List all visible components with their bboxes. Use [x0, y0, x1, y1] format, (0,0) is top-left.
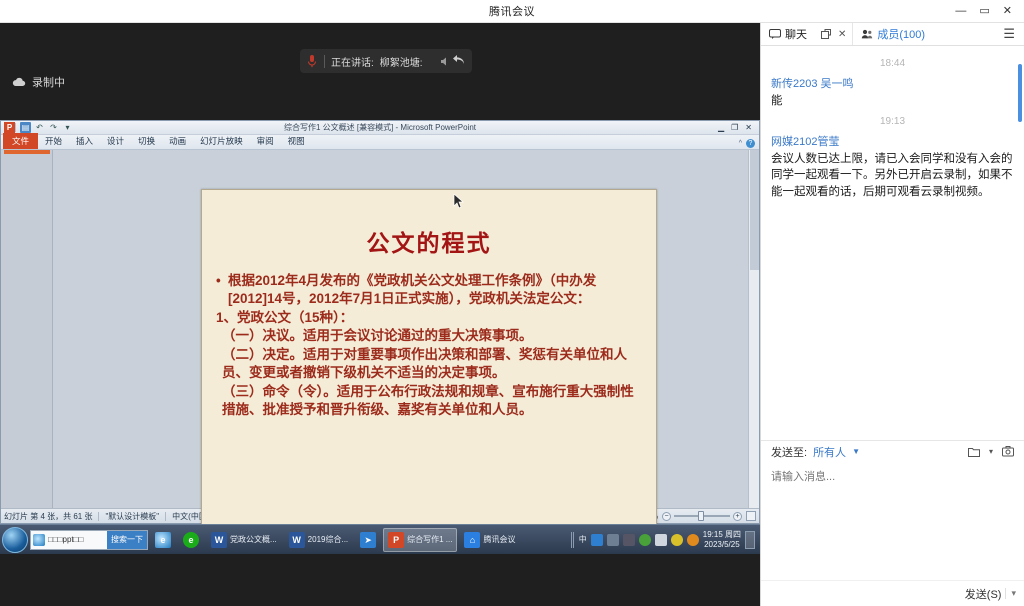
zoom-slider[interactable]: − +	[662, 512, 742, 521]
word-icon: W	[211, 532, 227, 548]
tray-grip	[571, 532, 575, 548]
recording-label: 录制中	[32, 74, 65, 90]
send-to-bar: 发送至: 所有人 ▼ ▾	[761, 440, 1024, 462]
chat-input-tools: ▾	[968, 446, 1014, 457]
meeting-body: 正在讲话: 柳絮池塘: 录制中 P	[0, 23, 760, 606]
taskbar-item-ie[interactable]: e	[150, 528, 176, 552]
slide-thumbnail-pane[interactable]	[1, 150, 53, 508]
recording-indicator: 录制中	[12, 74, 65, 90]
ribbon-help-group: ^ ?	[739, 139, 755, 148]
zoom-out-icon[interactable]: −	[662, 512, 671, 521]
pill-controls	[440, 55, 466, 67]
slide-vertical-scrollbar[interactable]	[748, 150, 759, 508]
antivirus-icon[interactable]	[671, 534, 683, 546]
ie-icon	[33, 534, 45, 546]
system-tray: 中 19:15 周四 2023/5/25	[571, 530, 758, 548]
chevron-down-icon[interactable]: ▾	[989, 447, 993, 456]
popout-icon[interactable]	[821, 29, 831, 39]
windows-taskbar: □□□ppt□□ 搜索一下 e e W 党政公文概... W 2019综合...…	[0, 524, 760, 554]
divider	[98, 512, 99, 521]
slide-body: • 根据2012年4月发布的《党政机关公文处理工作条例》（中办发[2012]14…	[216, 272, 642, 419]
close-chat-icon[interactable]: ✕	[838, 29, 846, 40]
speaking-name: 柳絮池塘:	[380, 54, 423, 69]
tab-file[interactable]: 文件	[3, 133, 38, 149]
chat-bubble-icon	[769, 29, 781, 39]
maximize-icon[interactable]: ▭	[979, 6, 989, 17]
show-desktop-button[interactable]	[745, 531, 755, 549]
meeting-titlebar: 腾讯会议 — ▭ ✕	[0, 0, 1024, 23]
taskbar-item-label: 2019综合...	[308, 534, 348, 545]
screenshot-icon[interactable]	[1002, 446, 1014, 457]
chevron-down-icon[interactable]: ▼	[852, 447, 860, 456]
blue-arrow-icon: ➤	[360, 532, 376, 548]
divider	[324, 55, 325, 68]
send-to-label: 发送至:	[771, 444, 807, 460]
taskbar-clock[interactable]: 19:15 周四 2023/5/25	[703, 530, 741, 548]
taskbar-item-tencent-meeting[interactable]: ⌂ 腾讯会议	[459, 528, 520, 552]
screen-share-bar: 柳絮池塘的屏幕共享	[0, 598, 760, 606]
microphone-icon	[306, 54, 318, 68]
tab-members[interactable]: 成员(100)	[852, 23, 933, 45]
active-speaker-pill: 正在讲话: 柳絮池塘:	[300, 49, 472, 73]
ppt-workarea: 公文的程式 • 根据2012年4月发布的《党政机关公文处理工作条例》（中办发[2…	[1, 150, 759, 508]
clock-date: 2023/5/25	[703, 540, 741, 549]
message-timestamp: 19:13	[771, 116, 1014, 127]
slide-editing-pane[interactable]: 公文的程式 • 根据2012年4月发布的《党政机关公文处理工作条例》（中办发[2…	[53, 150, 759, 508]
customize-qat-icon[interactable]: ▾	[62, 122, 73, 133]
ppt-close-icon[interactable]: ✕	[745, 123, 752, 132]
design-template-label: "默认设计模板"	[105, 511, 159, 522]
zoom-track[interactable]	[674, 515, 730, 517]
search-button[interactable]: 搜索一下	[107, 531, 147, 549]
taskbar-item-browser[interactable]: e	[178, 528, 204, 552]
bullet-icon: •	[216, 272, 228, 308]
share-back-icon[interactable]	[452, 55, 466, 67]
meeting-window-title: 腾讯会议	[489, 3, 535, 19]
tab-design[interactable]: 设计	[100, 134, 131, 149]
taskbar-item-label: 腾讯会议	[483, 534, 515, 545]
tab-transitions[interactable]: 切换	[131, 134, 162, 149]
send-to-target[interactable]: 所有人	[813, 444, 846, 460]
chat-message: 新传2203 吴一鸣 能	[771, 75, 1014, 110]
send-button-row: 发送(S) ▾	[761, 580, 1024, 606]
slide-bullet-1: • 根据2012年4月发布的《党政机关公文处理工作条例》（中办发[2012]14…	[216, 272, 642, 308]
thumbnail-selected-strip	[4, 150, 50, 154]
slide-paragraph-5: （三）命令（令）。适用于公布行政法规和规章、宣布施行重大强制性措施、批准授予和晋…	[216, 383, 642, 419]
chat-panel: 聊天 ✕ 成员(100) ☰ 18:44 新传2203 吴一鸣 能	[760, 23, 1024, 606]
taskbar-item-blue-app[interactable]: ➤	[355, 528, 381, 552]
quick-access-toolbar: ▤ ↶ ↷ ▾	[20, 122, 73, 133]
message-sender: 新传2203 吴一鸣	[771, 75, 1014, 91]
menu-icon[interactable]: ☰	[994, 23, 1024, 45]
cloud-icon	[12, 77, 26, 87]
slide-paragraph-3: （一）决议。适用于会议讨论通过的重大决策事项。	[216, 327, 642, 345]
save-icon[interactable]: ▤	[20, 122, 31, 133]
slide-counter: 幻灯片 第 4 张，共 61 张	[4, 511, 92, 522]
tab-chat[interactable]: 聊天	[761, 23, 815, 45]
message-text: 能	[771, 93, 1014, 110]
usb-icon[interactable]	[655, 534, 667, 546]
speaking-label: 正在讲话:	[331, 54, 374, 69]
tab-insert[interactable]: 插入	[69, 134, 100, 149]
tab-chat-label: 聊天	[785, 26, 807, 42]
start-button-icon[interactable]	[2, 527, 28, 553]
message-timestamp: 18:44	[771, 58, 1014, 69]
taskbar-item-word-2[interactable]: W 2019综合...	[284, 528, 353, 552]
slide-title: 公文的程式	[216, 224, 642, 258]
chat-panel-tabs: 聊天 ✕ 成员(100) ☰	[761, 23, 1024, 46]
redo-icon[interactable]: ↷	[48, 122, 59, 133]
minimize-icon[interactable]: —	[955, 6, 966, 17]
taskbar-item-label: 党政公文概...	[230, 534, 277, 545]
scrollbar-thumb[interactable]	[750, 150, 759, 270]
network-icon[interactable]	[591, 534, 603, 546]
ppt-document-title: 综合写作1 公文概述 [兼容模式] - Microsoft PowerPoint	[1, 122, 759, 133]
fit-slide-to-window-icon[interactable]	[746, 511, 756, 521]
update-icon[interactable]	[687, 534, 699, 546]
send-button[interactable]: 发送(S)	[965, 586, 1002, 602]
ppt-window-controls: ▁ ❐ ✕	[718, 123, 756, 132]
help-icon[interactable]: ?	[746, 139, 755, 148]
message-input[interactable]	[761, 462, 1024, 580]
people-icon	[861, 29, 873, 39]
chat-tab-controls: ✕	[815, 23, 852, 45]
tencent-meeting-icon: ⌂	[464, 532, 480, 548]
qq-browser-icon: e	[183, 532, 199, 548]
meeting-window-controls: — ▭ ✕	[955, 0, 1020, 23]
powerpoint-icon: P	[388, 532, 404, 548]
volume-icon[interactable]	[623, 534, 635, 546]
clock-time: 19:15 周四	[703, 530, 741, 539]
taskbar-item-label: 综合写作1 ...	[407, 534, 452, 545]
chat-scrollbar-thumb[interactable]	[1018, 64, 1022, 122]
undo-icon[interactable]: ↶	[34, 122, 45, 133]
file-upload-icon[interactable]	[968, 446, 980, 457]
send-options-chevron-icon[interactable]: ▾	[1005, 588, 1016, 599]
zoom-knob[interactable]	[698, 511, 704, 521]
slide-canvas[interactable]: 公文的程式 • 根据2012年4月发布的《党政机关公文处理工作条例》（中办发[2…	[201, 189, 657, 529]
search-input-text[interactable]: □□□ppt□□	[48, 535, 83, 544]
ppt-minimize-icon[interactable]: ▁	[718, 123, 724, 132]
chat-message-list[interactable]: 18:44 新传2203 吴一鸣 能 19:13 网媒2102管莹 会议人数已达…	[761, 46, 1024, 440]
zoom-in-icon[interactable]: +	[733, 512, 742, 521]
message-text: 会议人数已达上限，请已入会同学和没有入会的同学一起观看一下。另外已开启云录制，如…	[771, 151, 1014, 201]
powerpoint-window: P ▤ ↶ ↷ ▾ 综合写作1 公文概述 [兼容模式] - Microsoft …	[0, 120, 760, 524]
ime-icon[interactable]: 中	[579, 534, 587, 545]
slide-paragraph-text: 根据2012年4月发布的《党政机关公文处理工作条例》（中办发[2012]14号，…	[228, 272, 642, 308]
word-icon: W	[289, 532, 305, 548]
taskbar-search-box[interactable]: □□□ppt□□ 搜索一下	[30, 530, 148, 550]
signal-icon[interactable]	[607, 534, 619, 546]
chat-message: 网媒2102管莹 会议人数已达上限，请已入会同学和没有入会的同学一起观看一下。另…	[771, 133, 1014, 201]
ppt-restore-icon[interactable]: ❐	[731, 123, 738, 132]
powerpoint-logo-icon: P	[4, 122, 15, 133]
tab-animations[interactable]: 动画	[162, 134, 193, 149]
tab-home[interactable]: 开始	[38, 134, 69, 149]
screen: 腾讯会议 — ▭ ✕ 正在讲话: 柳絮池塘:	[0, 0, 1024, 606]
tab-members-label: 成员(100)	[877, 26, 925, 42]
ppt-ribbon-tabs: 文件 开始 插入 设计 切换 动画 幻灯片放映 审阅 视图 ^ ?	[1, 135, 759, 150]
tab-slideshow[interactable]: 幻灯片放映	[193, 134, 250, 149]
ie-icon: e	[155, 532, 171, 548]
taskbar-item-word-1[interactable]: W 党政公文概...	[206, 528, 282, 552]
volume-icon[interactable]	[440, 56, 449, 67]
message-sender: 网媒2102管莹	[771, 133, 1014, 149]
shield-icon[interactable]	[639, 534, 651, 546]
minimize-ribbon-icon[interactable]: ^	[739, 140, 742, 147]
slide-paragraph-4: （二）决定。适用于对重要事项作出决策和部署、奖惩有关单位和人员、变更或者撤销下级…	[216, 346, 642, 382]
close-icon[interactable]: ✕	[1003, 6, 1012, 17]
taskbar-item-powerpoint[interactable]: P 综合写作1 ...	[383, 528, 457, 552]
ppt-titlebar: P ▤ ↶ ↷ ▾ 综合写作1 公文概述 [兼容模式] - Microsoft …	[1, 121, 759, 135]
tab-view[interactable]: 视图	[281, 134, 312, 149]
mouse-cursor-icon	[453, 194, 464, 207]
divider	[165, 512, 166, 521]
slide-paragraph-2: 1、党政公文（15种）：	[216, 309, 642, 327]
divider	[15, 123, 16, 132]
tab-review[interactable]: 审阅	[250, 134, 281, 149]
